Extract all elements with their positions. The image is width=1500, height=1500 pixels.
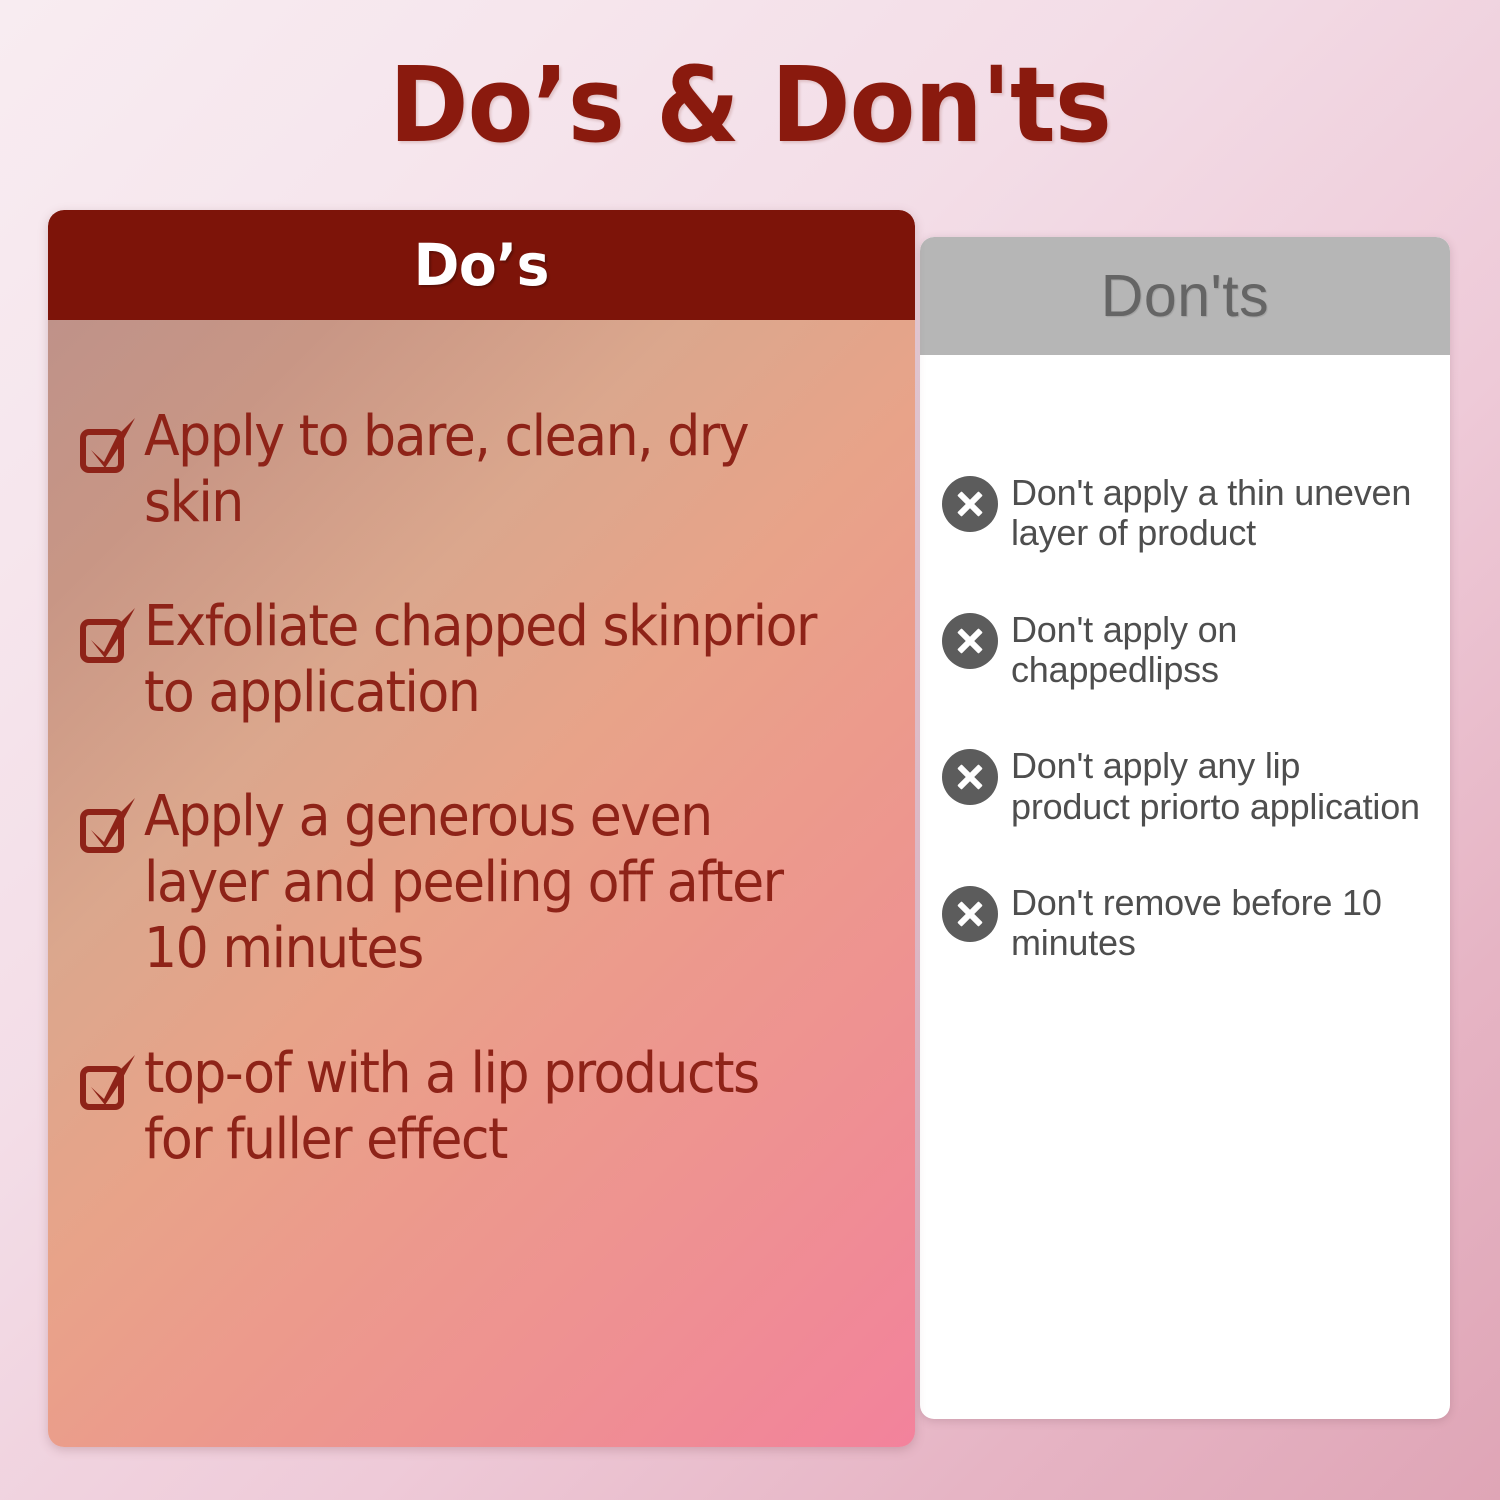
list-item-label: Apply to bare, clean, dry skin [144,404,837,536]
list-item-label: Don't apply on chappedlipss [1011,610,1426,691]
x-circle-icon [942,613,998,669]
donts-header-label: Don'ts [1101,262,1269,330]
checkbox-checked-icon [80,1053,140,1111]
dos-list: Apply to bare, clean, dry skin Exfoliate… [48,320,915,1447]
list-item-label: Don't remove before 10 minutes [1011,883,1426,964]
list-item: Exfoliate chapped skinprior to applicati… [80,594,889,726]
x-circle-icon [942,886,998,942]
dos-header-label: Do’s [414,231,549,299]
list-item-label: Don't apply a thin uneven layer of produ… [1011,473,1426,554]
list-item: Don't apply on chappedlipss [942,610,1426,691]
list-item-label: Apply a generous even layer and peeling … [144,784,837,982]
list-item: Don't apply a thin uneven layer of produ… [942,473,1426,554]
checkbox-checked-icon [80,416,140,474]
list-item-label: Exfoliate chapped skinprior to applicati… [144,594,837,726]
dos-panel: Do’s Apply to bare, clean, dry skin Exfo… [48,210,915,1447]
list-item-label: Don't apply any lip product priorto appl… [1011,746,1426,827]
x-circle-icon [942,749,998,805]
checkbox-checked-icon [80,796,140,854]
list-item: Apply a generous even layer and peeling … [80,784,889,982]
list-item: Don't apply any lip product priorto appl… [942,746,1426,827]
donts-header: Don'ts [920,237,1450,355]
list-item: Apply to bare, clean, dry skin [80,404,889,536]
list-item-label: top-of with a lip products for fuller ef… [144,1041,837,1173]
checkbox-checked-icon [80,606,140,664]
list-item: Don't remove before 10 minutes [942,883,1426,964]
list-item: top-of with a lip products for fuller ef… [80,1041,889,1173]
page-title: Do’s & Don'ts [60,46,1440,166]
donts-panel: Don'ts Don't apply a thin uneven layer o… [920,237,1450,1419]
x-circle-icon [942,476,998,532]
donts-list: Don't apply a thin uneven layer of produ… [920,355,1450,964]
dos-header: Do’s [48,210,915,320]
